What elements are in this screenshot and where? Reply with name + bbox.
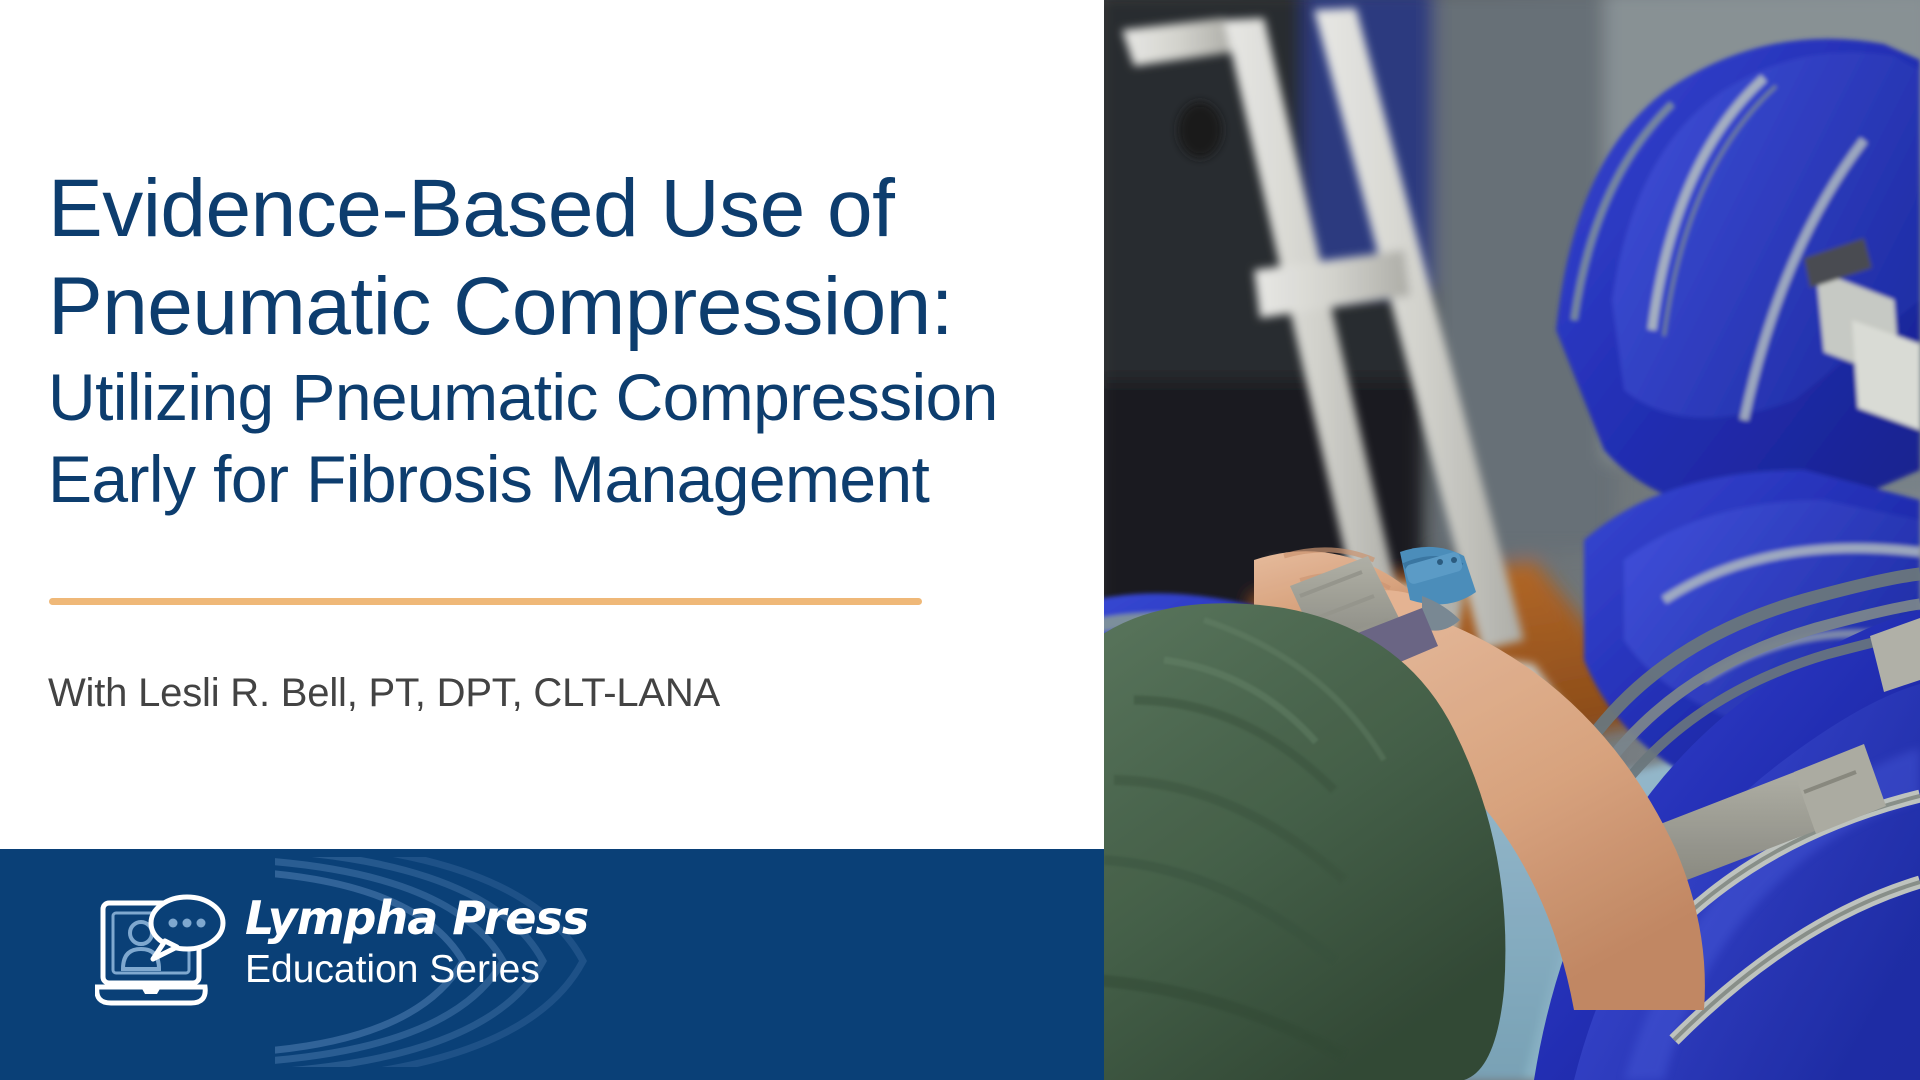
subtitle-line-2: Early for Fibrosis Management <box>48 438 1058 520</box>
presentation-title-slide: Evidence-Based Use of Pneumatic Compress… <box>0 0 1920 1080</box>
subtitle-line-1: Utilizing Pneumatic Compression <box>48 356 1058 438</box>
logo-text-block: Lympha Press Education Series <box>245 891 545 993</box>
hero-photo <box>1104 0 1920 1080</box>
laptop-webinar-icon <box>95 889 231 1015</box>
title-line-1: Evidence-Based Use of <box>48 160 1058 258</box>
presenter-credit: With Lesli R. Bell, PT, DPT, CLT-LANA <box>48 667 720 719</box>
lympha-press-logo[interactable]: Lympha Press Education Series <box>95 867 535 1067</box>
title-block: Evidence-Based Use of Pneumatic Compress… <box>48 160 1058 520</box>
footer-band: Lympha Press Education Series <box>0 849 1104 1080</box>
logo-brand-name: Lympha Press <box>245 891 545 945</box>
logo-series-name: Education Series <box>245 947 545 993</box>
title-line-2: Pneumatic Compression: <box>48 258 1058 356</box>
orange-divider <box>49 598 922 605</box>
